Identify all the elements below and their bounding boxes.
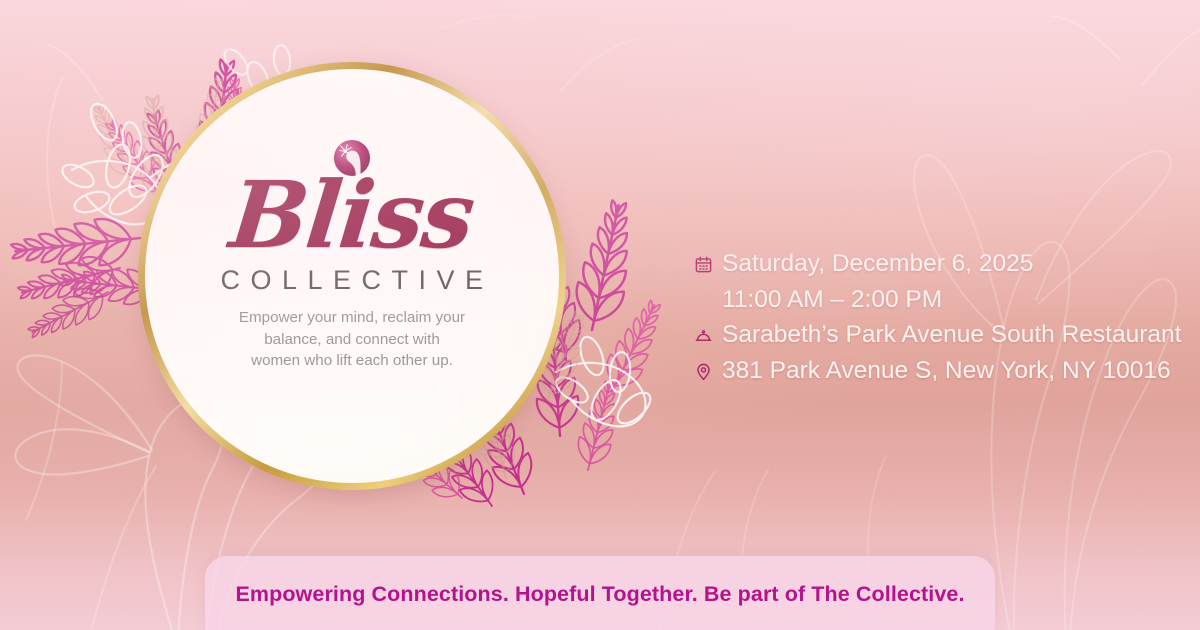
logo-collective-text: COLLECTIVE [210,265,493,296]
event-time-row: 11:00 AM – 2:00 PM [694,284,1164,317]
logo-disc: Bliss COLLECTIVE Empower your mind, recl… [145,69,559,483]
calendar-icon [694,255,713,274]
logo-tagline-line-1: Empower your mind, reclaim your [217,307,487,329]
event-date-text: Saturday, December 6, 2025 [722,248,1033,281]
logo-tagline-line-3: women who lift each other up. [217,350,487,372]
logo-tagline-line-2: balance, and connect with [217,329,487,351]
event-address-row: 381 Park Avenue S, New York, NY 10016 [694,355,1164,388]
logo-wordmark: Bliss [227,171,478,259]
tagline-bar-text: Empowering Connections. Hopeful Together… [235,582,964,607]
tagline-bar: Empowering Connections. Hopeful Together… [205,556,995,630]
event-venue-row: Sarabeth’s Park Avenue South Restaurant [694,319,1164,352]
logo-medallion: Bliss COLLECTIVE Empower your mind, recl… [138,62,566,490]
event-address-text: 381 Park Avenue S, New York, NY 10016 [722,355,1171,388]
map-pin-icon [694,362,713,381]
event-time-text: 11:00 AM – 2:00 PM [722,284,942,317]
event-details: Saturday, December 6, 2025 11:00 AM – 2:… [694,248,1164,390]
event-venue-text: Sarabeth’s Park Avenue South Restaurant [722,319,1181,352]
event-banner: Bliss COLLECTIVE Empower your mind, recl… [0,0,1200,630]
event-date-row: Saturday, December 6, 2025 [694,248,1164,281]
logo-tagline: Empower your mind, reclaim your balance,… [217,307,487,372]
cloche-icon [694,326,713,345]
